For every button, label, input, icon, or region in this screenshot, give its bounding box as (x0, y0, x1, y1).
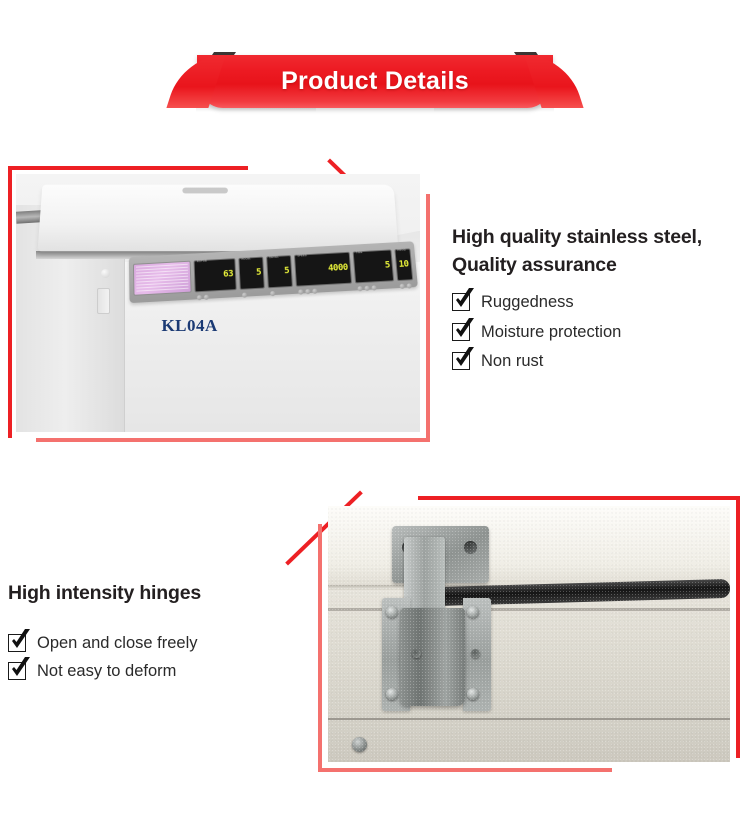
centrifuge-lid-handle (183, 188, 229, 194)
hinge-photo (328, 506, 730, 762)
list-item: Not easy to deform (8, 662, 288, 680)
product-details-page: Product Details (0, 0, 750, 813)
display-caption: ACCEL (241, 257, 251, 261)
check-icon (8, 662, 26, 680)
display-caption: SPEED (297, 254, 307, 258)
list-item-label: Ruggedness (481, 293, 574, 311)
centrifuge-latch (97, 288, 110, 314)
display-caption: PROG (397, 248, 406, 251)
display-buttons[interactable] (357, 286, 376, 292)
display-prog: PROG 10 (394, 248, 413, 281)
centrifuge-illustration: ROTOR 63 ACCEL 5 DECEL 5 (16, 174, 420, 432)
display-buttons[interactable] (270, 291, 275, 296)
feature-checklist: Open and close freely Not easy to deform (8, 634, 288, 680)
display-value: 10 (398, 260, 409, 269)
hinge-illustration (328, 506, 730, 762)
check-icon (452, 293, 470, 311)
feature-headline: High intensity hinges (8, 580, 288, 608)
list-item: Ruggedness (452, 293, 744, 311)
display-buttons[interactable] (197, 295, 209, 301)
product-image-frame-hinge (318, 496, 744, 782)
list-item-label: Not easy to deform (37, 662, 176, 680)
list-item: Open and close freely (8, 634, 288, 652)
display-speed: SPEED 4000 (294, 252, 352, 287)
display-accel: ACCEL 5 (238, 256, 265, 290)
check-icon (8, 634, 26, 652)
frame-bar-bottom-left (318, 768, 612, 772)
feature-block-stainless-steel: High quality stainless steel, Quality as… (452, 224, 744, 381)
product-image-frame-centrifuge: ROTOR 63 ACCEL 5 DECEL 5 (8, 166, 432, 446)
centrifuge-lcd-screen (133, 261, 192, 296)
centrifuge-model-label: KL04A (161, 316, 217, 336)
feature-block-hinges: High intensity hinges Open and close fre… (8, 580, 288, 690)
display-time: TIME 5 (353, 249, 395, 284)
list-item: Non rust (452, 352, 744, 370)
centrifuge-lid (38, 185, 398, 252)
headline-line-1: High quality stainless steel, (452, 226, 702, 248)
list-item-label: Open and close freely (37, 634, 198, 652)
headline-line-2: Quality assurance (452, 254, 617, 276)
frame-bar-top-right (418, 496, 740, 500)
display-buttons[interactable] (242, 293, 247, 298)
frame-bar-left (318, 524, 322, 772)
frame-bar-right (736, 496, 740, 758)
display-buttons[interactable] (400, 284, 413, 290)
feature-headline: High quality stainless steel, Quality as… (452, 224, 744, 279)
check-icon (452, 352, 470, 370)
display-value: 5 (385, 261, 391, 270)
list-item-label: Moisture protection (481, 323, 621, 341)
display-caption: ROTOR (197, 260, 207, 264)
display-value: 4000 (328, 263, 348, 273)
product-details-banner: Product Details (0, 52, 750, 114)
feature-checklist: Ruggedness Moisture protection Non rust (452, 293, 744, 369)
list-item: Moisture protection (452, 323, 744, 341)
frame-bar-top-left (8, 166, 248, 170)
frame-bar-right (426, 194, 430, 438)
display-value: 5 (284, 267, 289, 276)
list-item-label: Non rust (481, 352, 543, 370)
display-rotor: ROTOR 63 (194, 258, 237, 293)
display-caption: TIME (356, 251, 363, 254)
frame-bar-bottom (36, 438, 430, 442)
frame-bar-left (8, 166, 12, 438)
display-buttons[interactable] (298, 289, 317, 295)
display-value: 5 (256, 268, 261, 277)
display-caption: DECEL (269, 256, 279, 260)
display-value: 63 (223, 270, 233, 280)
check-icon (452, 323, 470, 341)
surface-texture (328, 506, 730, 762)
page-title: Product Details (197, 55, 553, 108)
display-decel: DECEL 5 (266, 255, 293, 289)
centrifuge-photo: ROTOR 63 ACCEL 5 DECEL 5 (16, 174, 420, 432)
